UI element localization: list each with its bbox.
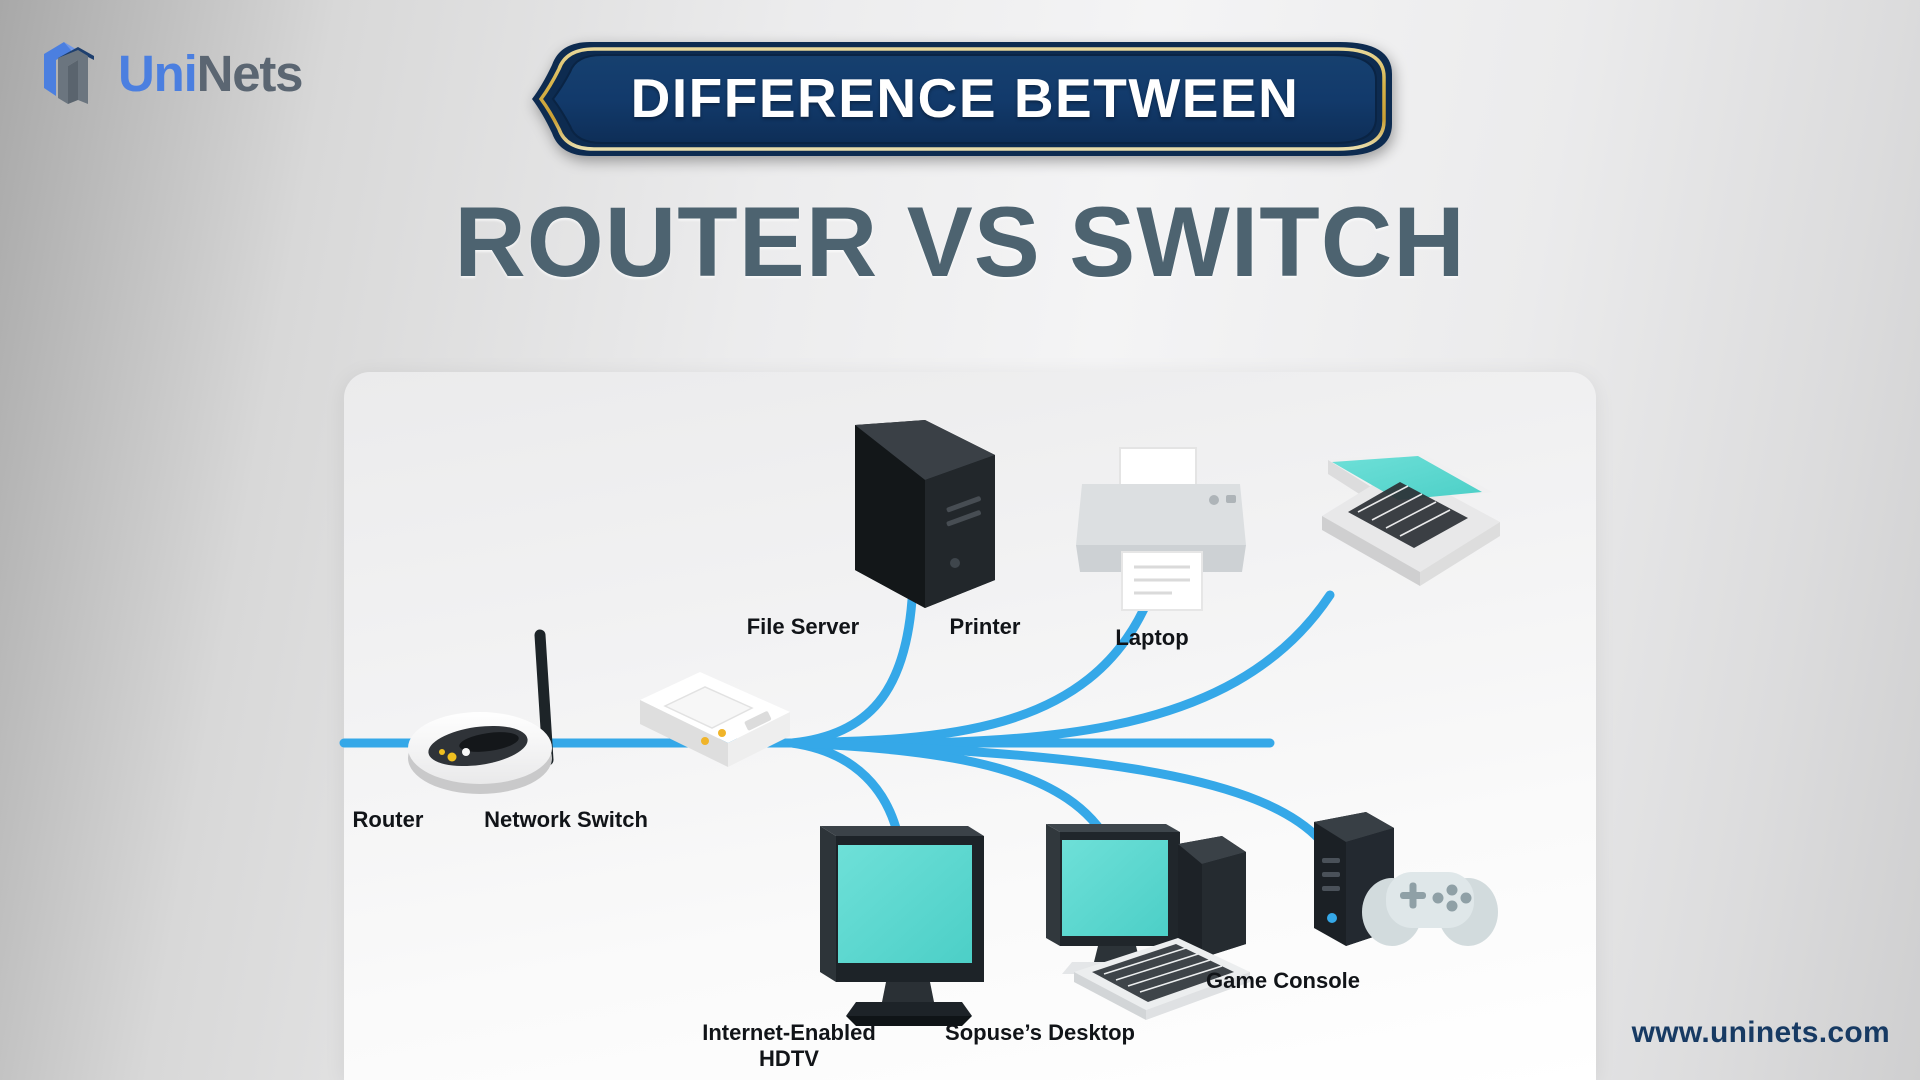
device-label-desktop: Sopuse’s Desktop — [925, 1020, 1155, 1046]
laptop-icon — [1322, 452, 1500, 586]
wifi-router-icon — [408, 635, 552, 794]
device-label-laptop: Laptop — [1052, 625, 1252, 651]
device-label-console: Game Console — [1168, 968, 1398, 994]
printer-icon — [1076, 448, 1246, 610]
network-device-icons — [0, 0, 1920, 1080]
website-url[interactable]: www.uninets.com — [1632, 1016, 1890, 1050]
game-console-icon — [1314, 812, 1498, 946]
file-server-icon — [855, 420, 995, 608]
device-label-router: Router — [288, 807, 488, 833]
device-label-hdtv: Internet-Enabled HDTV — [674, 1020, 904, 1072]
hdtv-icon — [820, 826, 984, 1026]
device-label-switch: Network Switch — [466, 807, 666, 833]
device-label-server: File Server — [703, 614, 903, 640]
network-switch-icon — [640, 672, 790, 767]
